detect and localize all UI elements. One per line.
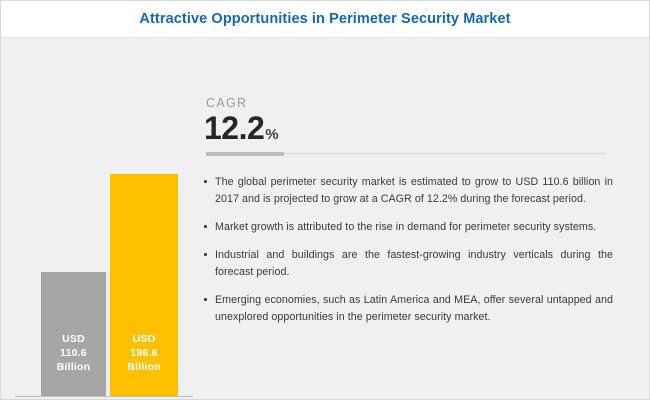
list-item-text: Industrial and buildings are the fastest…: [215, 249, 613, 278]
cagr-value: 12.2: [204, 111, 264, 145]
page-title: Attractive Opportunities in Perimeter Se…: [139, 11, 510, 27]
x-axis-line: [15, 396, 193, 397]
bar-2017-e[interactable]: USD 110.6 Billion: [41, 272, 106, 396]
bar-chart: USD 110.6 Billion USD 196.6 Billion 2017…: [15, 128, 195, 400]
bar-2022-p[interactable]: USD 196.6 Billion: [110, 174, 178, 396]
cagr-divider: [201, 152, 611, 158]
list-item-text: Market growth is attributed to the rise …: [215, 221, 596, 233]
bar-label-2022-p: USD 196.6 Billion: [127, 332, 160, 374]
bar-label-line-1: USD: [127, 332, 160, 346]
body-panel: USD 110.6 Billion USD 196.6 Billion 2017…: [1, 38, 649, 399]
bar-label-2017-e: USD 110.6 Billion: [57, 332, 90, 374]
bar-label-line-2: 110.6: [57, 346, 90, 360]
list-item: The global perimeter security market is …: [201, 174, 613, 208]
bullet-dot-icon: [204, 225, 207, 228]
chart-plot-area: USD 110.6 Billion USD 196.6 Billion: [15, 128, 195, 396]
list-item: Industrial and buildings are the fastest…: [201, 247, 613, 281]
cagr-label: CAGR: [206, 96, 621, 110]
bullet-dot-icon: [204, 253, 207, 256]
cagr-divider-accent: [206, 152, 284, 156]
bullet-dot-icon: [204, 298, 207, 301]
bar-label-line-1: USD: [57, 332, 90, 346]
cagr-value-row: 12.2 %: [204, 111, 621, 145]
slide-container: Attractive Opportunities in Perimeter Se…: [0, 0, 650, 400]
bar-label-line-3: Billion: [57, 360, 90, 374]
list-item: Market growth is attributed to the rise …: [201, 219, 613, 236]
list-item-text: Emerging economies, such as Latin Americ…: [215, 294, 613, 323]
list-item-text: The global perimeter security market is …: [215, 176, 613, 205]
bullet-list: The global perimeter security market is …: [201, 174, 613, 326]
list-item: Emerging economies, such as Latin Americ…: [201, 292, 613, 326]
right-column: CAGR 12.2 % The global perimeter securit…: [201, 96, 621, 326]
cagr-divider-line: [284, 153, 606, 154]
cagr-percent-symbol: %: [265, 126, 278, 143]
slide-header: Attractive Opportunities in Perimeter Se…: [1, 1, 649, 37]
bar-label-line-2: 196.6: [127, 346, 160, 360]
bullet-dot-icon: [204, 180, 207, 183]
bar-label-line-3: Billion: [127, 360, 160, 374]
